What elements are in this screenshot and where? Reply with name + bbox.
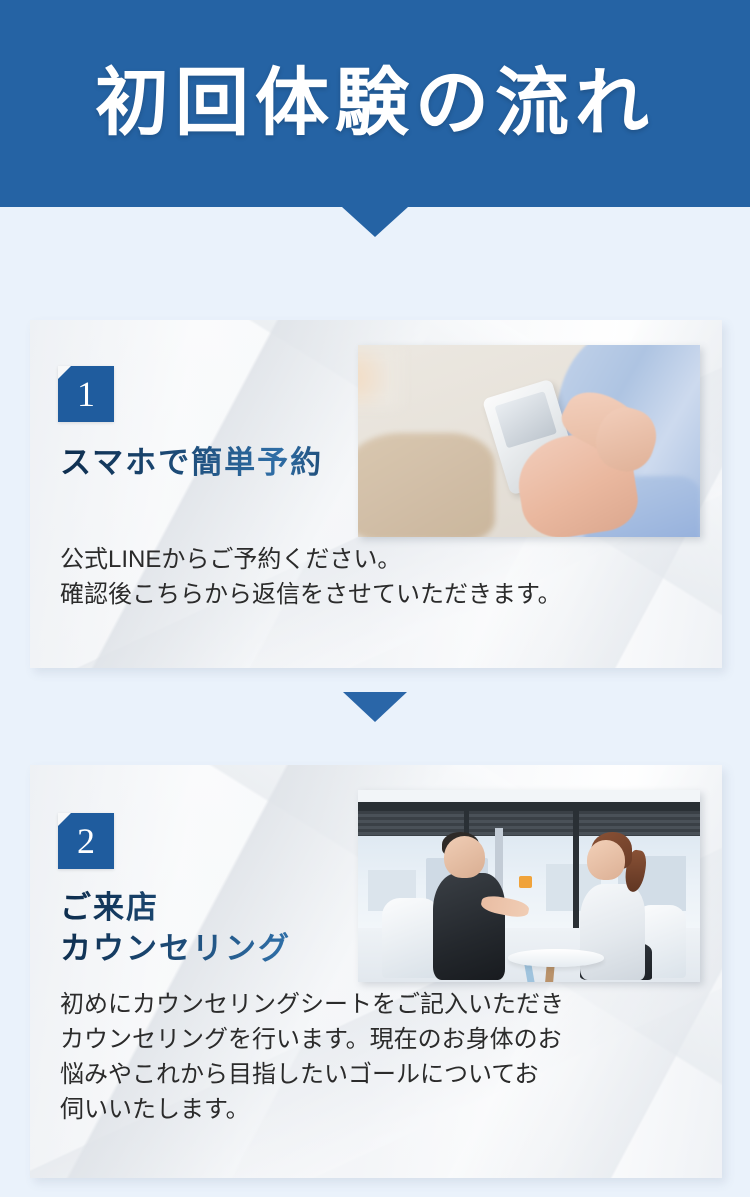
header-notch-triangle-down-icon — [342, 207, 408, 237]
page-title: 初回体験の流れ — [95, 67, 655, 141]
step-body-1: 公式LINEからご予約ください。 確認後こちらから返信をさせていただきます。 — [60, 542, 700, 612]
step-badge-2: 2 — [58, 813, 114, 869]
step-title-1: スマホで簡単予約 — [60, 443, 360, 484]
step-body-2: 初めにカウンセリングシートをご記入いただき カウンセリングを行います。現在のお身… — [60, 987, 705, 1127]
step-photo-1 — [358, 345, 700, 537]
step-badge-1: 1 — [58, 366, 114, 422]
step-card-2: 2 ご来店 カウンセリング — [30, 765, 722, 1178]
step-card-1: 1 スマホで簡単予約 公式LINEからご予約ください。 確認後こちらから返信をさ… — [30, 320, 722, 668]
page-header: 初回体験の流れ — [0, 0, 750, 207]
page-root: { "header": { "title": "初回体験の流れ", "bg_co… — [0, 0, 750, 1197]
flow-arrow-triangle-down-icon — [343, 692, 407, 722]
step-title-2: ご来店 カウンセリング — [60, 888, 370, 970]
step-photo-2 — [358, 790, 700, 982]
